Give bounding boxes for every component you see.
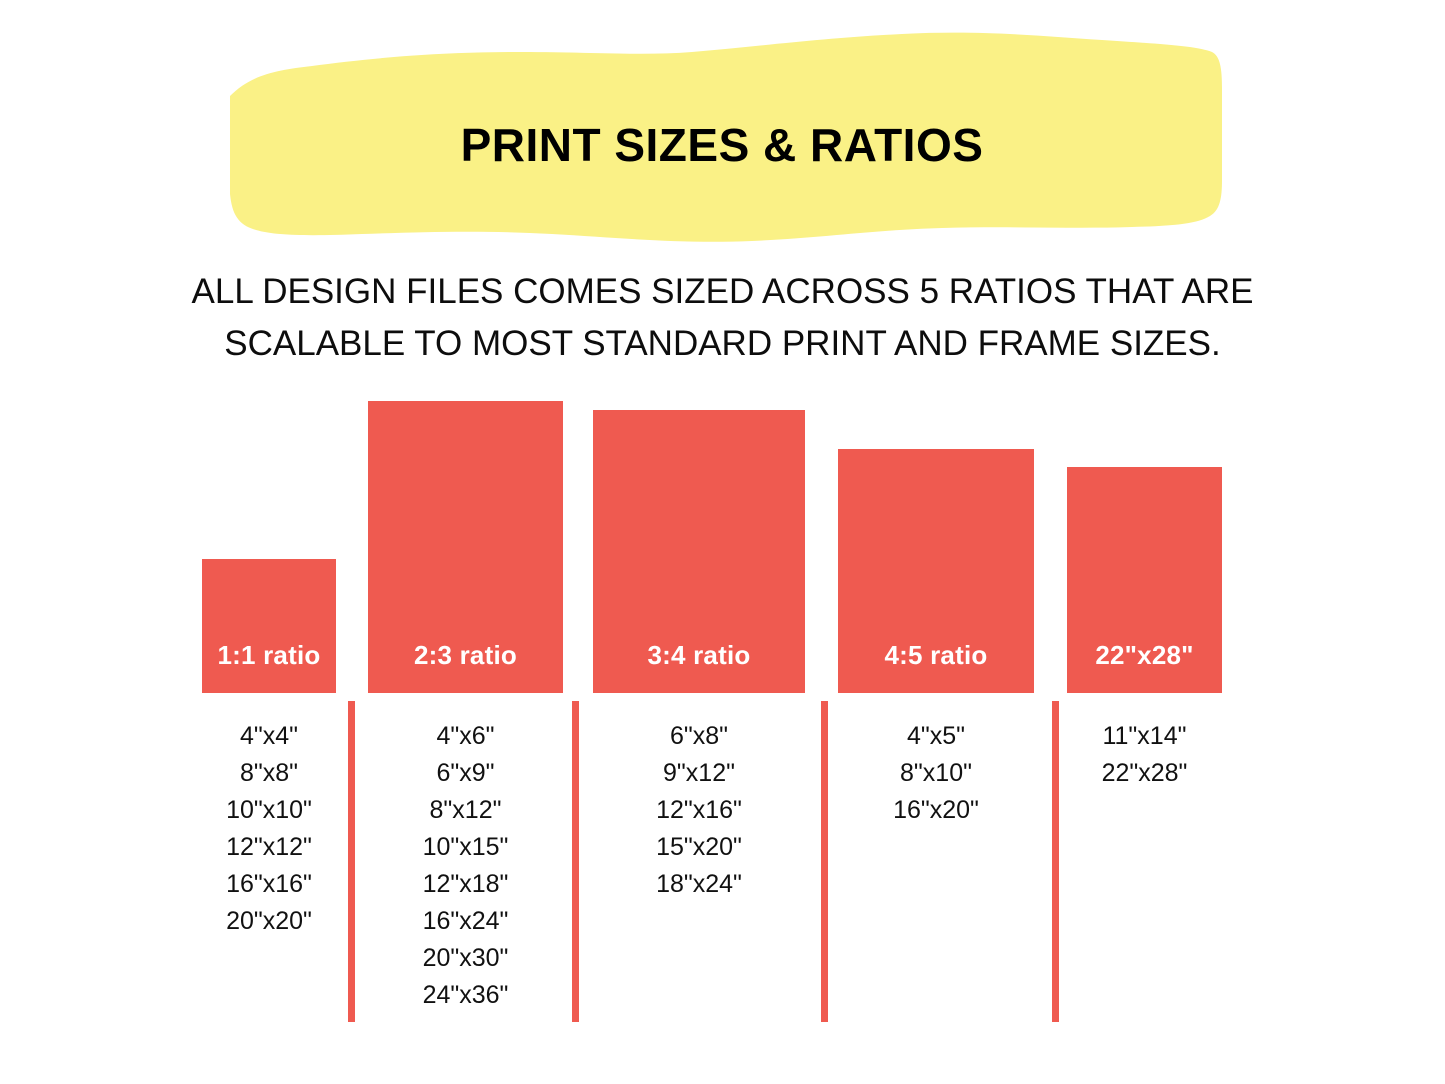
bar-label-ratio-3-4: 3:4 ratio bbox=[593, 640, 805, 671]
ratio-bar-chart: 1:1 ratio 2:3 ratio 3:4 ratio 4:5 ratio … bbox=[0, 0, 1445, 1084]
size-item: 11"x14" bbox=[1067, 718, 1222, 755]
size-item: 24"x36" bbox=[368, 977, 563, 1014]
column-divider-2 bbox=[572, 701, 579, 1022]
size-list-ratio-1-1: 4"x4" 8"x8" 10"x10" 12"x12" 16"x16" 20"x… bbox=[202, 718, 336, 940]
size-list-size-22x28: 11"x14" 22"x28" bbox=[1067, 718, 1222, 792]
bar-size-22x28: 22"x28" bbox=[1067, 467, 1222, 693]
size-item: 18"x24" bbox=[593, 866, 805, 903]
size-item: 4"x5" bbox=[838, 718, 1034, 755]
size-item: 9"x12" bbox=[593, 755, 805, 792]
size-item: 6"x9" bbox=[368, 755, 563, 792]
size-item: 16"x20" bbox=[838, 792, 1034, 829]
bar-label-ratio-1-1: 1:1 ratio bbox=[202, 640, 336, 671]
size-item: 8"x10" bbox=[838, 755, 1034, 792]
column-divider-4 bbox=[1052, 701, 1059, 1022]
size-item: 12"x18" bbox=[368, 866, 563, 903]
bar-label-ratio-4-5: 4:5 ratio bbox=[838, 640, 1034, 671]
size-item: 8"x8" bbox=[202, 755, 336, 792]
size-item: 16"x24" bbox=[368, 903, 563, 940]
size-item: 20"x30" bbox=[368, 940, 563, 977]
size-item: 10"x15" bbox=[368, 829, 563, 866]
size-item: 10"x10" bbox=[202, 792, 336, 829]
column-divider-1 bbox=[348, 701, 355, 1022]
size-item: 6"x8" bbox=[593, 718, 805, 755]
size-item: 8"x12" bbox=[368, 792, 563, 829]
size-list-ratio-2-3: 4"x6" 6"x9" 8"x12" 10"x15" 12"x18" 16"x2… bbox=[368, 718, 563, 1014]
size-item: 15"x20" bbox=[593, 829, 805, 866]
size-item: 12"x12" bbox=[202, 829, 336, 866]
size-item: 16"x16" bbox=[202, 866, 336, 903]
size-item: 4"x4" bbox=[202, 718, 336, 755]
size-list-ratio-3-4: 6"x8" 9"x12" 12"x16" 15"x20" 18"x24" bbox=[593, 718, 805, 903]
bar-label-ratio-2-3: 2:3 ratio bbox=[368, 640, 563, 671]
size-item: 22"x28" bbox=[1067, 755, 1222, 792]
size-item: 12"x16" bbox=[593, 792, 805, 829]
bar-ratio-3-4: 3:4 ratio bbox=[593, 410, 805, 693]
bar-ratio-2-3: 2:3 ratio bbox=[368, 401, 563, 693]
bar-ratio-4-5: 4:5 ratio bbox=[838, 449, 1034, 693]
column-divider-3 bbox=[821, 701, 828, 1022]
size-list-ratio-4-5: 4"x5" 8"x10" 16"x20" bbox=[838, 718, 1034, 829]
bar-label-size-22x28: 22"x28" bbox=[1067, 640, 1222, 671]
size-item: 4"x6" bbox=[368, 718, 563, 755]
bar-ratio-1-1: 1:1 ratio bbox=[202, 559, 336, 693]
infographic-canvas: PRINT SIZES & RATIOS ALL DESIGN FILES CO… bbox=[0, 0, 1445, 1084]
size-item: 20"x20" bbox=[202, 903, 336, 940]
